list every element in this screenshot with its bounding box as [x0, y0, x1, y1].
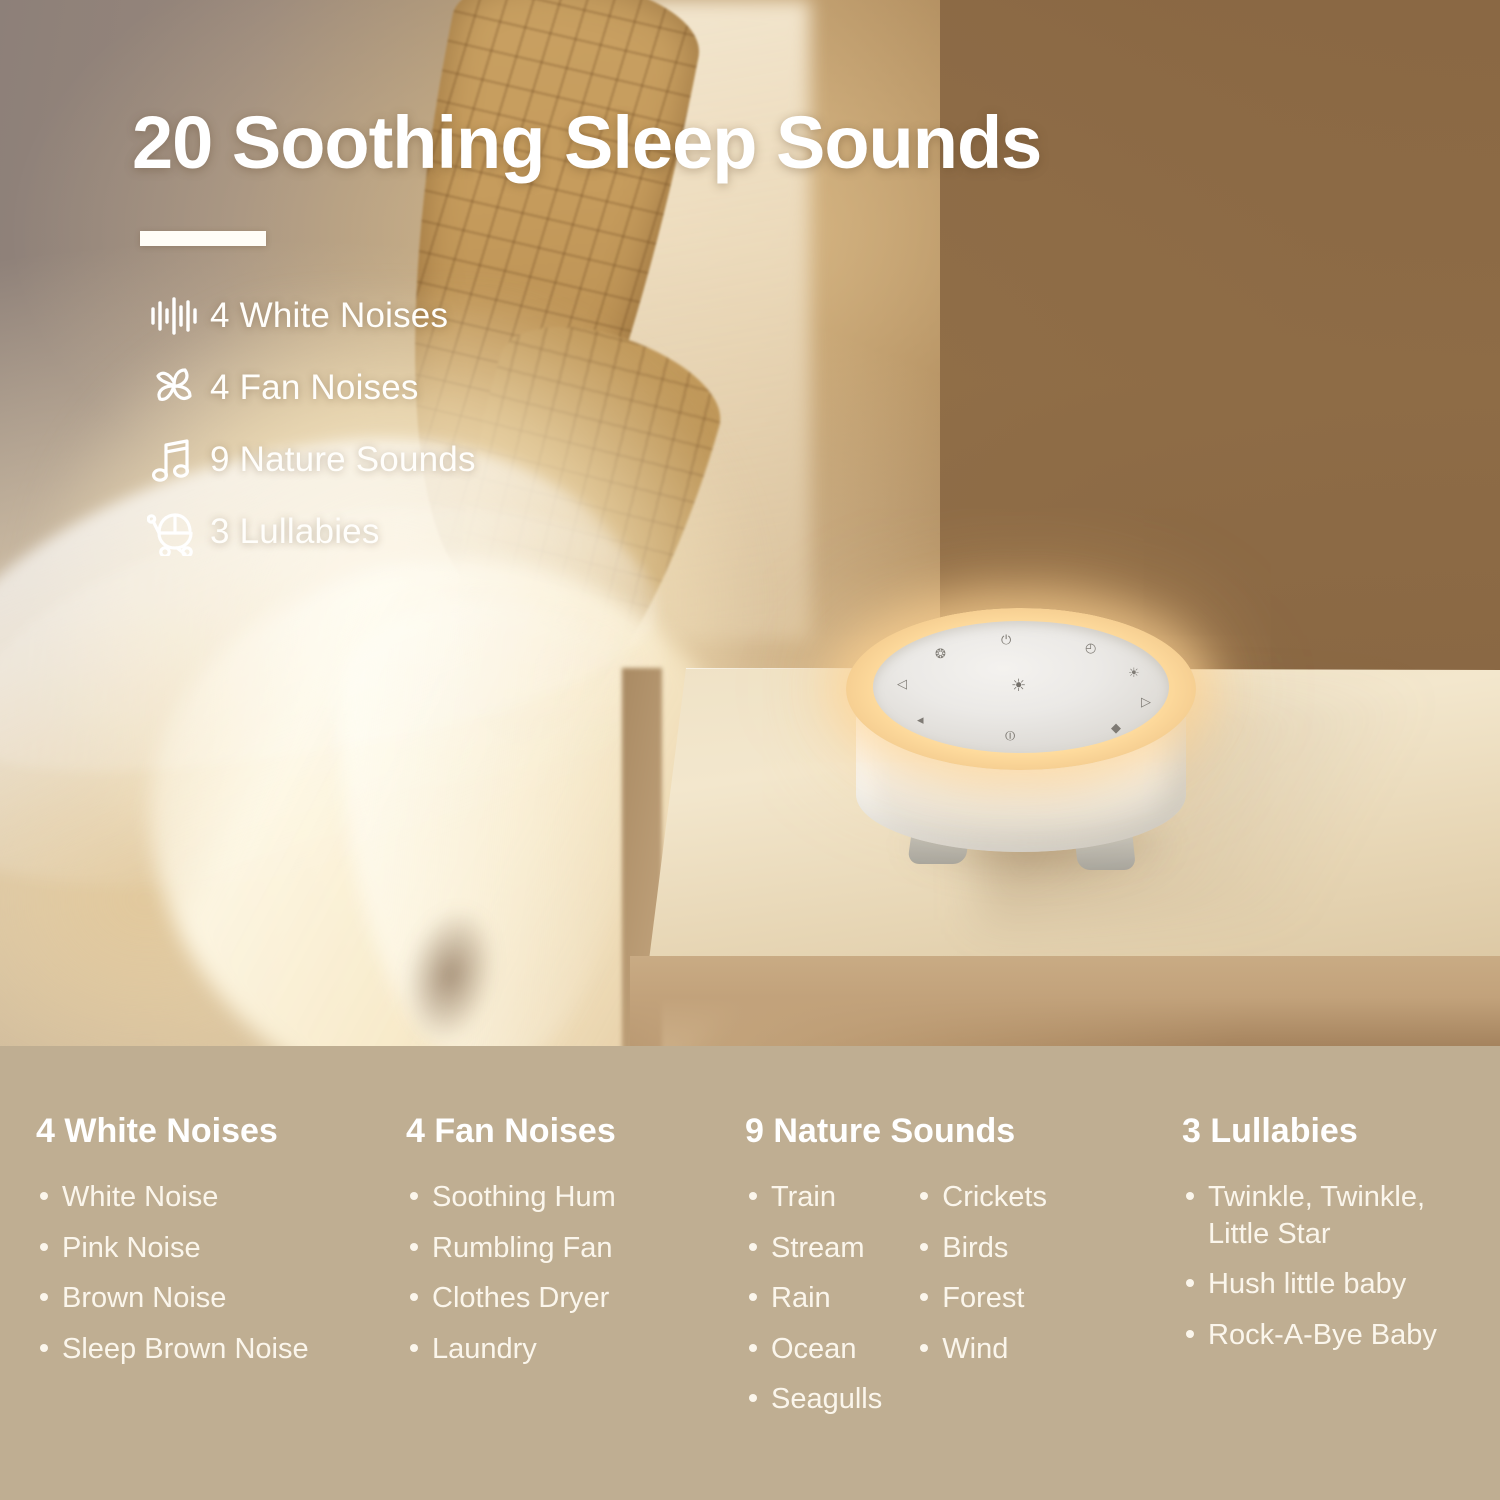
- column-title: 3 Lullabies: [1182, 1112, 1482, 1151]
- volume-down-icon[interactable]: ◂: [917, 713, 924, 726]
- list-item: Sleep Brown Noise: [36, 1331, 309, 1368]
- sound-list: Train Stream Rain Ocean Seagulls: [745, 1165, 882, 1418]
- power-icon[interactable]: ⏻: [1001, 633, 1011, 646]
- list-item: Train: [745, 1179, 882, 1216]
- list-item: Pink Noise: [36, 1230, 309, 1267]
- list-item: Seagulls: [745, 1381, 882, 1418]
- list-item: White Noise: [36, 1179, 309, 1216]
- list-item: Laundry: [406, 1331, 616, 1368]
- list-item: Rain: [745, 1280, 882, 1317]
- product-infographic: ⏻ ◴ ❂ ☀ ◁ ▷ ◂ ◆ ⏼ ☀ 20 Soothing Sleep So…: [0, 0, 1500, 1500]
- sound-wave-icon: [138, 294, 210, 338]
- previous-track-icon[interactable]: ◁: [897, 677, 907, 690]
- feature-label: 4 White Noises: [210, 296, 448, 336]
- list-item: Soothing Hum: [406, 1179, 616, 1216]
- device-touch-panel[interactable]: ⏻ ◴ ❂ ☀ ◁ ▷ ◂ ◆ ⏼ ☀: [873, 621, 1169, 753]
- next-track-icon[interactable]: ▷: [1141, 695, 1151, 708]
- feature-label: 9 Nature Sounds: [210, 440, 476, 480]
- baby-stroller-icon: [138, 508, 210, 556]
- column-fan-noises: 4 Fan Noises Soothing Hum Rumbling Fan C…: [406, 1112, 736, 1367]
- column-nature-sounds: 9 Nature Sounds Train Stream Rain Ocean …: [745, 1112, 1175, 1418]
- feature-label: 4 Fan Noises: [210, 368, 419, 408]
- list-item: Wind: [916, 1331, 1047, 1368]
- list-item: Rumbling Fan: [406, 1230, 616, 1267]
- list-item: Crickets: [916, 1179, 1047, 1216]
- column-title: 4 White Noises: [36, 1112, 396, 1151]
- column-title: 4 Fan Noises: [406, 1112, 736, 1151]
- volume-up-icon[interactable]: ◆: [1111, 721, 1121, 734]
- title-accent-bar: [140, 231, 266, 246]
- timer-icon[interactable]: ◴: [1085, 641, 1096, 654]
- sound-list-secondary: Crickets Birds Forest Wind: [916, 1165, 1047, 1418]
- feature-item-lullabies: 3 Lullabies: [138, 496, 658, 568]
- sound-list: White Noise Pink Noise Brown Noise Sleep…: [36, 1165, 309, 1367]
- bedroom-photo: ⏻ ◴ ❂ ☀ ◁ ▷ ◂ ◆ ⏼ ☀ 20 Soothing Sleep So…: [0, 0, 1500, 1046]
- feature-item-white-noises: 4 White Noises: [138, 280, 658, 352]
- list-item: Clothes Dryer: [406, 1280, 616, 1317]
- list-item: Rock-A-Bye Baby: [1182, 1317, 1482, 1354]
- brightness-sun-icon[interactable]: ☀: [1011, 677, 1026, 694]
- feature-list: 4 White Noises 4 Fan Noises: [138, 280, 658, 568]
- feature-label: 3 Lullabies: [210, 512, 380, 552]
- sound-columns: 4 White Noises White Noise Pink Noise Br…: [0, 1046, 1500, 1500]
- list-item: Stream: [745, 1230, 882, 1267]
- sound-list: Soothing Hum Rumbling Fan Clothes Dryer …: [406, 1165, 616, 1367]
- page-title: 20 Soothing Sleep Sounds: [132, 100, 1041, 185]
- list-item: Forest: [916, 1280, 1047, 1317]
- list-item: Birds: [916, 1230, 1047, 1267]
- sound-select-icon[interactable]: ❂: [935, 647, 946, 660]
- brightness-icon[interactable]: ⏼: [1005, 729, 1015, 742]
- column-white-noises: 4 White Noises White Noise Pink Noise Br…: [36, 1112, 396, 1367]
- list-item: Ocean: [745, 1331, 882, 1368]
- list-item: Twinkle, Twinkle, Little Star: [1182, 1179, 1482, 1252]
- fan-blades-icon: [138, 364, 210, 412]
- feature-item-nature-sounds: 9 Nature Sounds: [138, 424, 658, 496]
- light-mode-icon[interactable]: ☀: [1128, 666, 1140, 679]
- sound-list-panel: 4 White Noises White Noise Pink Noise Br…: [0, 1046, 1500, 1500]
- list-item: Brown Noise: [36, 1280, 309, 1317]
- music-notes-icon: [138, 435, 210, 485]
- sound-machine-device: ⏻ ◴ ❂ ☀ ◁ ▷ ◂ ◆ ⏼ ☀: [846, 608, 1196, 878]
- sound-list: Twinkle, Twinkle, Little Star Hush littl…: [1182, 1165, 1482, 1353]
- list-item: Hush little baby: [1182, 1266, 1482, 1303]
- feature-item-fan-noises: 4 Fan Noises: [138, 352, 658, 424]
- nightstand-front-edge: [630, 956, 1500, 1046]
- column-title: 9 Nature Sounds: [745, 1112, 1175, 1151]
- column-lullabies: 3 Lullabies Twinkle, Twinkle, Little Sta…: [1182, 1112, 1482, 1353]
